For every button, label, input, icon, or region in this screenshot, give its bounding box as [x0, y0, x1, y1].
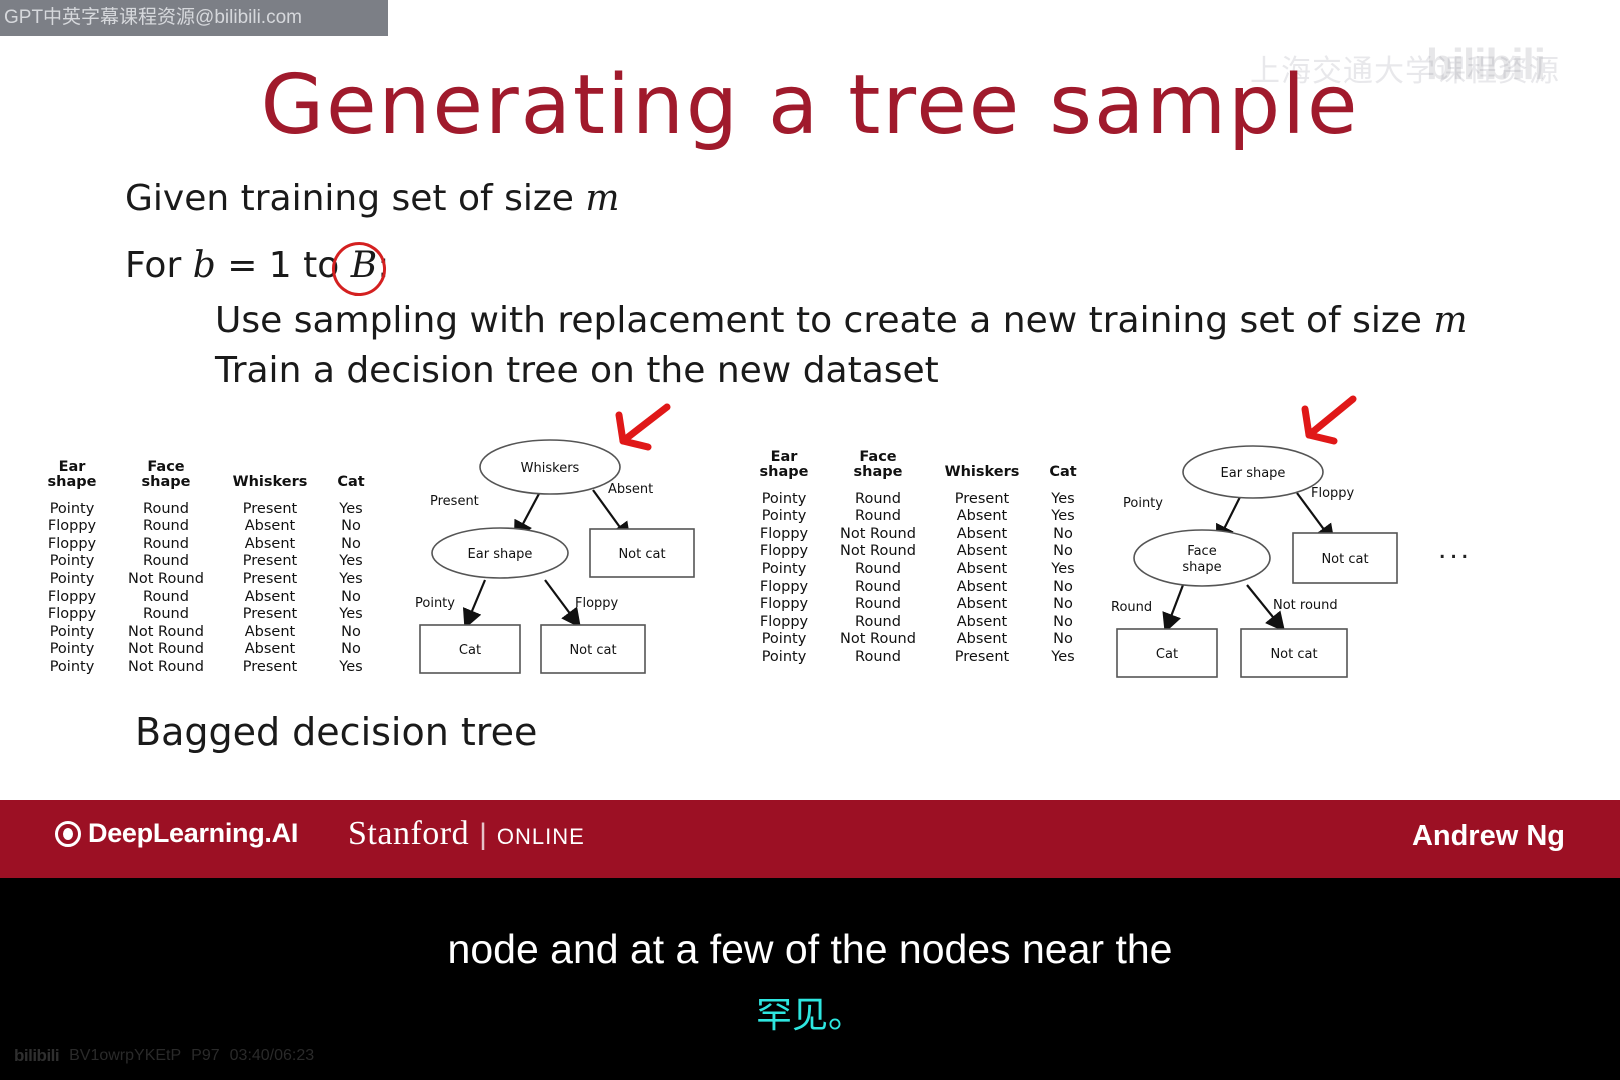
video-part-label: P97 [191, 1047, 219, 1065]
table-cell: Round [826, 596, 930, 614]
table-row: PointyRoundPresentYes [30, 500, 380, 518]
for-text: For [125, 245, 193, 286]
table-cell: Round [826, 490, 930, 508]
table-cell: No [322, 588, 380, 606]
author-name: Andrew Ng [1412, 820, 1565, 853]
tree2-leaf-left-label: Cat [1156, 647, 1178, 662]
table-cell: Floppy [30, 588, 114, 606]
table-cell: Absent [218, 623, 322, 641]
tree2-edge-label-not-round: Not round [1273, 598, 1338, 613]
table-cell: No [1034, 543, 1092, 561]
tree2-leaf-right-label: Not cat [1321, 552, 1368, 567]
table-cell: Yes [322, 553, 380, 571]
table-cell: Not Round [826, 525, 930, 543]
table-cell: Round [114, 500, 218, 518]
given-training-set-line: Given training set of size m [125, 178, 620, 219]
for-var-b: b [193, 245, 216, 286]
table-cell: Absent [218, 588, 322, 606]
table-cell: Present [218, 606, 322, 624]
table-cell: No [322, 535, 380, 553]
table-cell: Round [114, 535, 218, 553]
table-cell: Pointy [30, 570, 114, 588]
bootstrap-sample-table-1: Earshape Faceshape Whiskers Cat PointyRo… [30, 460, 380, 676]
table: Earshape Faceshape Whiskers Cat PointyRo… [742, 450, 1092, 666]
table-header-row: Earshape Faceshape Whiskers Cat [742, 450, 1092, 490]
column-header-whiskers: Whiskers [930, 450, 1034, 490]
tree2-edge-label-floppy: Floppy [1311, 486, 1355, 501]
column-header-ear-shape: Earshape [742, 450, 826, 490]
table-cell: Present [218, 570, 322, 588]
table-row: PointyRoundPresentYes [742, 648, 1092, 666]
table-cell: Floppy [742, 543, 826, 561]
table-cell: Floppy [30, 606, 114, 624]
table-cell: Floppy [742, 578, 826, 596]
watermark-top-left: GPT中英字幕课程资源@bilibili.com [0, 0, 388, 36]
table-cell: Present [218, 553, 322, 571]
table-row: PointyNot RoundAbsentNo [30, 623, 380, 641]
stanford-label: Stanford [348, 815, 469, 853]
table-row: PointyRoundPresentYes [742, 490, 1092, 508]
tree1-leaf-left-label: Cat [459, 643, 481, 658]
video-id-label: BV1owrpYKEtP [69, 1047, 181, 1065]
column-header-face-shape: Faceshape [114, 460, 218, 500]
tree1-leaf-right-label: Not cat [618, 547, 665, 562]
slide-footer-bar: DeepLearning.AI Stanford | ONLINE Andrew… [0, 800, 1620, 878]
table-cell: Round [114, 553, 218, 571]
given-text: Given training set of size [125, 178, 585, 219]
table-cell: Yes [1034, 560, 1092, 578]
table-row: PointyRoundAbsentYes [742, 508, 1092, 526]
tree1-leaf-mid-right-label: Not cat [569, 643, 616, 658]
decision-tree-diagram-1: Whiskers Ear shape Not cat Cat Not cat P… [405, 395, 705, 685]
table-row: PointyRoundPresentYes [30, 553, 380, 571]
column-header-face-shape: Faceshape [826, 450, 930, 490]
table-cell: Floppy [742, 596, 826, 614]
column-header-ear-shape: Earshape [30, 460, 114, 500]
ellipsis-text: ... [1438, 532, 1472, 566]
table-cell: Absent [930, 631, 1034, 649]
table-cell: Present [218, 500, 322, 518]
bilibili-logo-icon: bilibili [14, 1046, 59, 1066]
table-cell: Floppy [742, 613, 826, 631]
table-cell: Not Round [826, 543, 930, 561]
stanford-online-label: ONLINE [497, 824, 585, 850]
table-cell: No [1034, 525, 1092, 543]
table-row: FloppyRoundAbsentNo [30, 535, 380, 553]
video-time-label: 03:40/06:23 [230, 1047, 315, 1065]
table-cell: Floppy [30, 535, 114, 553]
table-row: FloppyRoundAbsentNo [742, 613, 1092, 631]
table-cell: Not Round [114, 623, 218, 641]
decision-tree-diagram-2: Ear shape Face shape Not cat Cat Not cat… [1105, 395, 1405, 685]
table-cell: Absent [218, 641, 322, 659]
table-row: FloppyRoundAbsentNo [30, 588, 380, 606]
tree1-mid-label: Ear shape [468, 547, 533, 562]
column-header-whiskers: Whiskers [218, 460, 322, 500]
tree1-edge-label-present: Present [430, 494, 479, 509]
for-equals: = 1 to [216, 245, 351, 286]
column-header-cat: Cat [322, 460, 380, 500]
tree2-leaf-mid-right-label: Not cat [1270, 647, 1317, 662]
table-cell: No [1034, 631, 1092, 649]
table-row: FloppyNot RoundAbsentNo [742, 525, 1092, 543]
subtitle-area: node and at a few of the nodes near the … [0, 878, 1620, 1080]
use-sampling-var-m: m [1433, 300, 1467, 341]
table-cell: Pointy [742, 560, 826, 578]
table-cell: Round [114, 518, 218, 536]
table-cell: Yes [322, 500, 380, 518]
table-cell: No [1034, 578, 1092, 596]
table-cell: Pointy [30, 553, 114, 571]
table-row: FloppyRoundAbsentNo [742, 578, 1092, 596]
table-cell: Present [218, 658, 322, 676]
table-cell: Yes [1034, 490, 1092, 508]
table-cell: Round [826, 613, 930, 631]
slide-canvas: GPT中英字幕课程资源@bilibili.com 上海交通大学课程资源 bili… [0, 0, 1620, 800]
table-cell: Not Round [114, 570, 218, 588]
table-cell: Pointy [30, 623, 114, 641]
table-cell: Absent [930, 596, 1034, 614]
page-title: Generating a tree sample [0, 58, 1620, 153]
table-row: FloppyRoundAbsentNo [742, 596, 1092, 614]
table-row: PointyNot RoundPresentYes [30, 658, 380, 676]
bagged-decision-tree-caption: Bagged decision tree [135, 710, 537, 754]
video-player-stage: GPT中英字幕课程资源@bilibili.com 上海交通大学课程资源 bili… [0, 0, 1620, 1080]
deeplearning-spiral-icon [55, 821, 81, 847]
table-cell: Not Round [114, 641, 218, 659]
table-body: PointyRoundPresentYesPointyRoundAbsentYe… [742, 490, 1092, 666]
table-cell: Not Round [826, 631, 930, 649]
table-row: FloppyNot RoundAbsentNo [742, 543, 1092, 561]
table-cell: Present [930, 490, 1034, 508]
tree1-edge-label-floppy: Floppy [575, 596, 619, 611]
subtitle-english: node and at a few of the nodes near the [0, 926, 1620, 973]
table-row: PointyRoundAbsentYes [742, 560, 1092, 578]
table-cell: Round [826, 508, 930, 526]
table-row: FloppyRoundAbsentNo [30, 518, 380, 536]
table-cell: Absent [930, 560, 1034, 578]
tree2-root-label: Ear shape [1221, 466, 1286, 481]
table-cell: Absent [930, 578, 1034, 596]
tree2-mid-label-line2: shape [1182, 560, 1221, 575]
table-cell: Round [826, 578, 930, 596]
deeplearning-ai-label: DeepLearning.AI [88, 818, 298, 849]
given-var-m: m [585, 178, 619, 219]
table-cell: No [1034, 613, 1092, 631]
table-cell: Round [114, 606, 218, 624]
table-cell: No [1034, 596, 1092, 614]
tree1-edge-label-pointy: Pointy [415, 596, 455, 611]
table-row: PointyNot RoundAbsentNo [742, 631, 1092, 649]
table-cell: Absent [930, 525, 1034, 543]
table-row: PointyNot RoundPresentYes [30, 570, 380, 588]
table-cell: Absent [218, 535, 322, 553]
tree2-edge-label-round: Round [1111, 600, 1152, 615]
table-cell: Pointy [742, 648, 826, 666]
table-cell: Yes [322, 570, 380, 588]
table-cell: Pointy [742, 490, 826, 508]
column-header-cat: Cat [1034, 450, 1092, 490]
table-cell: No [322, 518, 380, 536]
table: Earshape Faceshape Whiskers Cat PointyRo… [30, 460, 380, 676]
red-arrow-annotation-2 [1305, 399, 1353, 441]
table-cell: Absent [930, 613, 1034, 631]
table-cell: No [322, 641, 380, 659]
table-cell: Round [114, 588, 218, 606]
tree2-edge-label-pointy: Pointy [1123, 496, 1163, 511]
red-arrow-annotation-1 [619, 407, 667, 447]
table-cell: Absent [930, 543, 1034, 561]
table-row: FloppyRoundPresentYes [30, 606, 380, 624]
table-header-row: Earshape Faceshape Whiskers Cat [30, 460, 380, 500]
table-cell: Pointy [30, 641, 114, 659]
table-cell: Round [826, 560, 930, 578]
train-tree-line: Train a decision tree on the new dataset [215, 350, 939, 391]
table-cell: Yes [1034, 508, 1092, 526]
stanford-online-logo: Stanford | ONLINE [348, 815, 585, 853]
table-cell: Floppy [742, 525, 826, 543]
use-sampling-line: Use sampling with replacement to create … [215, 300, 1468, 341]
table-body: PointyRoundPresentYesFloppyRoundAbsentNo… [30, 500, 380, 676]
tree1-root-label: Whiskers [521, 461, 580, 476]
table-cell: Pointy [30, 500, 114, 518]
table-cell: Not Round [114, 658, 218, 676]
table-cell: Floppy [30, 518, 114, 536]
table-cell: Pointy [742, 508, 826, 526]
bootstrap-sample-table-2: Earshape Faceshape Whiskers Cat PointyRo… [742, 450, 1092, 666]
table-cell: Yes [1034, 648, 1092, 666]
table-cell: Present [930, 648, 1034, 666]
subtitle-chinese: 罕见。 [0, 986, 1620, 1038]
table-cell: Yes [322, 658, 380, 676]
player-meta-info: bilibili BV1owrpYKEtP P97 03:40/06:23 [14, 1046, 314, 1066]
table-cell: Round [826, 648, 930, 666]
use-sampling-text: Use sampling with replacement to create … [215, 300, 1433, 341]
table-cell: No [322, 623, 380, 641]
tree2-mid-label-line1: Face [1187, 544, 1216, 559]
deeplearning-ai-logo: DeepLearning.AI [55, 818, 298, 849]
stanford-divider: | [479, 818, 487, 852]
table-cell: Pointy [30, 658, 114, 676]
tree1-edge-label-absent: Absent [608, 482, 653, 497]
table-row: PointyNot RoundAbsentNo [30, 641, 380, 659]
table-cell: Pointy [742, 631, 826, 649]
table-cell: Absent [218, 518, 322, 536]
table-cell: Yes [322, 606, 380, 624]
table-cell: Absent [930, 508, 1034, 526]
